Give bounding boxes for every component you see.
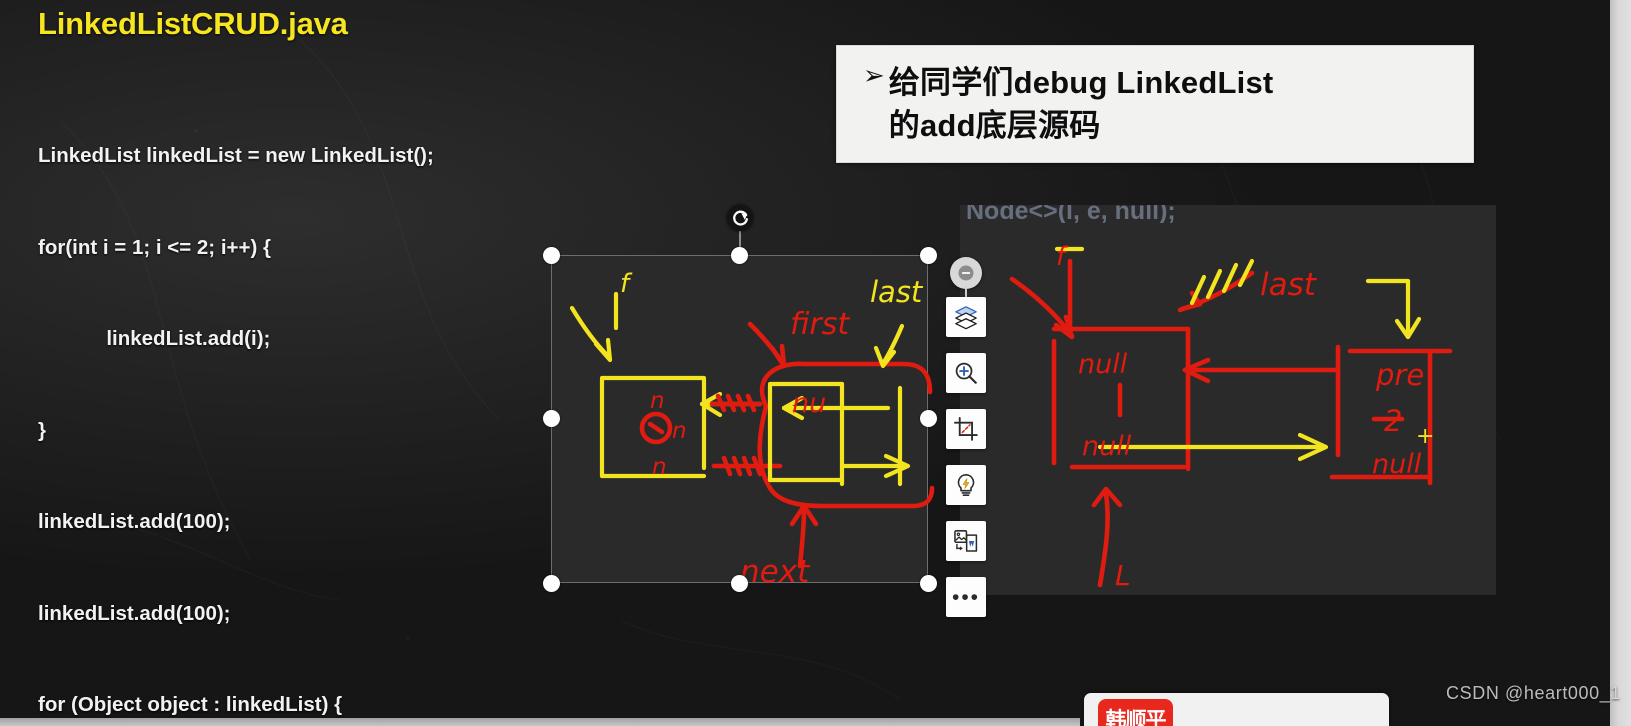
- banner-text: 给同学们debug LinkedList 的add底层源码: [889, 61, 1274, 147]
- slide-canvas: LinkedListCRUD.java LinkedList linkedLis…: [0, 0, 1631, 726]
- right-diagram-annotations: f null null last pre 2 + null L: [960, 205, 1496, 595]
- label-f: f: [1056, 242, 1069, 272]
- label-plus: +: [1416, 424, 1434, 449]
- code-line: linkedList.add(100);: [38, 507, 558, 538]
- minus-circle-icon: [957, 264, 975, 282]
- code-line: linkedList.add(i);: [38, 324, 558, 355]
- label-n-top: n: [650, 388, 665, 414]
- lightbulb-icon: [953, 472, 979, 498]
- label-null-top: null: [1078, 349, 1128, 380]
- enhance-tool-button[interactable]: [946, 465, 986, 505]
- image-tools-toolbar[interactable]: •••: [946, 297, 986, 617]
- more-options-button[interactable]: •••: [946, 577, 986, 617]
- layers-tool-button[interactable]: [946, 297, 986, 337]
- page-title: LinkedListCRUD.java: [38, 6, 348, 42]
- label-two: 2: [1384, 404, 1402, 438]
- code-line: for (Object object : linkedList) {: [38, 690, 558, 721]
- resize-handle-bottom-center[interactable]: [731, 575, 748, 592]
- image-to-doc-icon: [953, 528, 979, 554]
- code-line: linkedList.add(100);: [38, 599, 558, 630]
- crop-tool-button[interactable]: [946, 409, 986, 449]
- crop-icon: [953, 416, 979, 442]
- selected-image-frame[interactable]: f n n n first last nu next: [551, 255, 928, 583]
- resize-handle-top-left[interactable]: [543, 247, 560, 264]
- label-pre: pre: [1375, 358, 1424, 392]
- faded-code-text: Node<>(l, e, null);: [966, 205, 1496, 223]
- callout-banner: ➢ 给同学们debug LinkedList 的add底层源码: [836, 45, 1474, 163]
- resize-handle-bottom-left[interactable]: [543, 575, 560, 592]
- label-n-mid: n: [672, 418, 687, 444]
- label-nu: nu: [792, 388, 826, 419]
- code-line: }: [38, 416, 558, 447]
- code-listing: LinkedList linkedList = new LinkedList()…: [38, 80, 558, 726]
- resize-handle-middle-right[interactable]: [920, 410, 937, 427]
- label-last: last: [1260, 267, 1318, 303]
- label-null-right: null: [1372, 449, 1422, 480]
- resize-handle-top-center[interactable]: [731, 247, 748, 264]
- bottom-edge-strip: [0, 718, 1080, 726]
- resize-handle-top-right[interactable]: [920, 247, 937, 264]
- banner-line-2: 的add底层源码: [889, 104, 1274, 147]
- resize-handle-bottom-right[interactable]: [920, 575, 937, 592]
- layers-icon: [953, 304, 979, 330]
- resize-handle-middle-left[interactable]: [543, 410, 560, 427]
- label-f: f: [620, 269, 633, 299]
- label-next: next: [740, 554, 811, 590]
- right-edge-strip: [1610, 0, 1631, 726]
- zoom-in-icon: [953, 360, 979, 386]
- brand-logo: 韩顺平: [1098, 699, 1173, 726]
- right-whiteboard-panel: Node<>(l, e, null);: [960, 205, 1496, 595]
- zoom-in-tool-button[interactable]: [946, 353, 986, 393]
- rotate-icon[interactable]: [727, 205, 753, 231]
- collapse-toolbar-button[interactable]: [950, 257, 982, 289]
- banner-line-1: 给同学们debug LinkedList: [889, 61, 1274, 104]
- more-icon: •••: [952, 587, 980, 608]
- watermark: CSDN @heart000_1: [1446, 683, 1621, 704]
- label-n-bottom: n: [652, 454, 667, 480]
- label-last: last: [870, 275, 924, 309]
- label-first: first: [790, 307, 850, 342]
- bullet-arrow-icon: ➢: [863, 62, 885, 88]
- selected-image-annotations: f n n n first last nu next: [552, 256, 929, 584]
- code-line: for(int i = 1; i <= 2; i++) {: [38, 233, 558, 264]
- label-L: L: [1115, 559, 1131, 592]
- code-line: LinkedList linkedList = new LinkedList()…: [38, 141, 558, 172]
- brand-card: 韩顺平: [1084, 693, 1389, 726]
- label-null-bottom: null: [1082, 431, 1132, 462]
- image-to-doc-tool-button[interactable]: [946, 521, 986, 561]
